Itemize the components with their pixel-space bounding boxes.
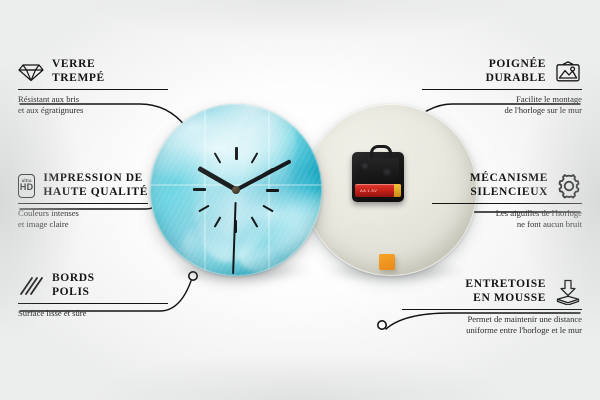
callout-title-line2: HAUTE QUALITÉ — [43, 186, 148, 200]
callout-title-line2: SILENCIEUX — [470, 186, 548, 200]
callout-verre-trempe[interactable]: VERRE TREMPÉ Résistant aux bris et aux é… — [18, 58, 168, 116]
quartz-movement: AA 1.5V — [352, 152, 404, 202]
movement-housing-detail — [357, 158, 399, 180]
foam-spacer-icon — [554, 279, 582, 305]
callout-title-line2: DURABLE — [486, 72, 546, 86]
battery: AA 1.5V — [355, 184, 401, 197]
battery-label: AA 1.5V — [360, 188, 377, 193]
callout-title-line2: TREMPÉ — [52, 72, 105, 86]
callout-divider — [18, 203, 148, 204]
diamond-icon — [18, 62, 44, 82]
battery-terminal — [394, 184, 401, 197]
callout-entretoise-en-mousse[interactable]: ENTRETOISE EN MOUSSE Permet de maintenir… — [402, 278, 582, 336]
callout-divider — [432, 203, 582, 204]
callout-desc-line2: de l'horloge sur le mur — [422, 105, 582, 116]
marker-entretoise — [378, 321, 386, 329]
callout-poignee-durable[interactable]: POIGNÉE DURABLE Facilite le montage de l… — [422, 58, 582, 116]
clock-front-rim — [150, 104, 322, 276]
callout-title-line1: POIGNÉE — [486, 58, 546, 72]
callout-mecanisme-silencieux[interactable]: MÉCANISME SILENCIEUX Les aiguilles de l'… — [432, 172, 582, 230]
callout-divider — [18, 89, 168, 90]
callout-title-line1: VERRE — [52, 58, 105, 72]
callout-desc-line2: et image claire — [18, 219, 148, 230]
polished-edges-icon — [18, 275, 44, 297]
callout-title-line1: ENTRETOISE — [465, 278, 546, 292]
callout-title-line2: POLIS — [52, 286, 95, 300]
callout-desc-line1: Couleurs intenses — [18, 208, 148, 219]
callout-divider — [422, 89, 582, 90]
callout-desc-line1: Facilite le montage — [422, 94, 582, 105]
callout-desc-line1: Surface lisse et sûre — [18, 308, 168, 319]
callout-bords-polis[interactable]: BORDS POLIS Surface lisse et sûre — [18, 272, 168, 319]
foam-spacer — [379, 254, 395, 270]
clock-front — [150, 104, 322, 276]
infographic-canvas: AA 1.5V — [0, 0, 600, 400]
callout-desc-line1: Permet de maintenir une distance — [402, 314, 582, 325]
picture-hanger-icon — [554, 61, 582, 83]
hanger-hook-icon — [370, 145, 392, 158]
callout-divider — [18, 303, 168, 304]
callout-desc-line1: Résistant aux bris — [18, 94, 168, 105]
ultra-hd-main-text: HD — [20, 183, 34, 192]
callout-desc-line2: uniforme entre l'horloge et le mur — [402, 325, 582, 336]
callout-title-line2: EN MOUSSE — [465, 292, 546, 306]
callout-title-line1: MÉCANISME — [470, 172, 548, 186]
callout-title-line1: IMPRESSION DE — [43, 172, 148, 186]
callout-desc-line2: et aux égratignures — [18, 105, 168, 116]
callout-title-line1: BORDS — [52, 272, 95, 286]
ultra-hd-icon: ultra HD — [18, 174, 35, 198]
callout-desc-line2: ne font aucun bruit — [432, 219, 582, 230]
gear-icon — [556, 173, 582, 199]
callout-impression-haute-qualite[interactable]: ultra HD IMPRESSION DE HAUTE QUALITÉ Cou… — [18, 172, 148, 230]
callout-divider — [402, 309, 582, 310]
callout-desc-line1: Les aiguilles de l'horloge — [432, 208, 582, 219]
